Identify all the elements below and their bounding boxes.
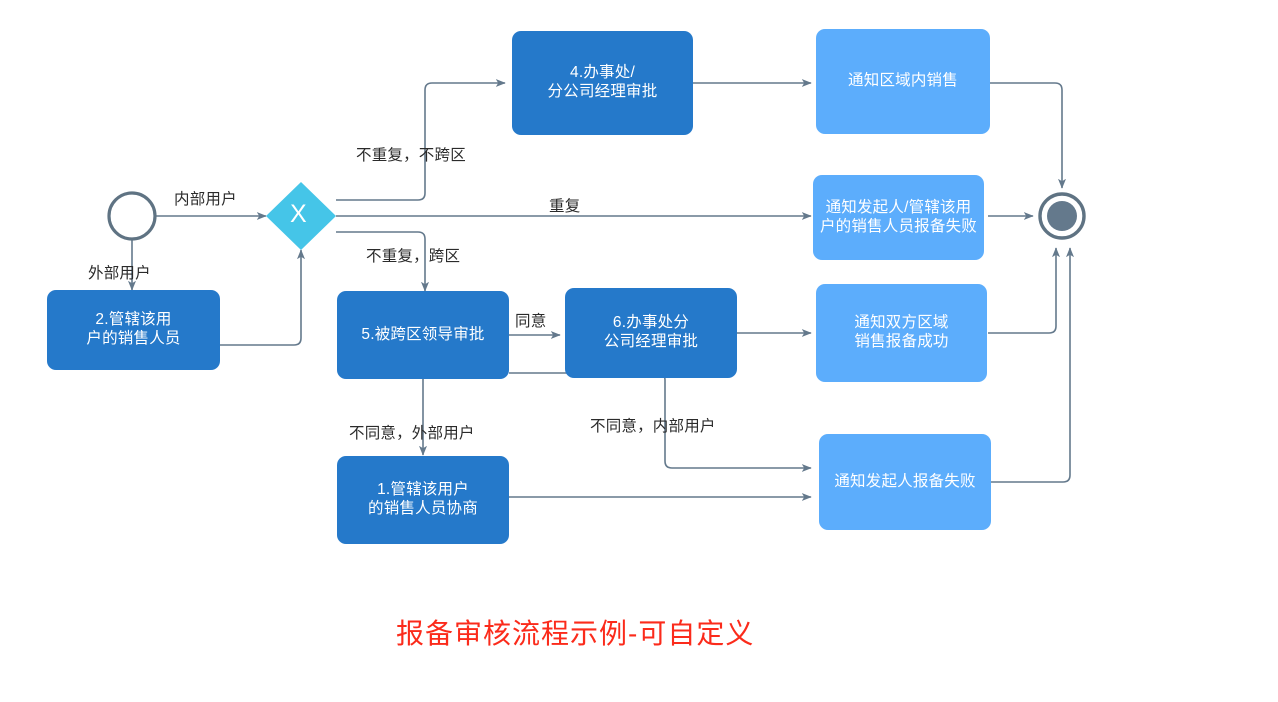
diagram-title: 报备审核流程示例-可自定义 xyxy=(396,612,754,652)
task-node-1-line1: 1.管辖该用户 xyxy=(368,481,478,500)
notification-node-success[interactable]: 通知双方区域 销售报备成功 xyxy=(816,284,987,382)
notification-node-fail-both[interactable]: 通知发起人/管辖该用 户的销售人员报备失败 xyxy=(813,175,984,260)
edge-label-disagree-internal: 不同意，内部用户 xyxy=(590,414,716,436)
task-node-2-line2: 户的销售人员 xyxy=(86,330,180,349)
task-node-6[interactable]: 6.办事处分 公司经理审批 xyxy=(565,288,737,378)
notification-fail-both-line1: 通知发起人/管辖该用 xyxy=(820,199,977,218)
edge-label-no-repeat-no-cross: 不重复，不跨区 xyxy=(356,143,466,165)
notification-success-line1: 通知双方区域 xyxy=(854,314,948,333)
flowchart-canvas: X 2.管辖该用 户的销售人员 4.办事处/ 分公司经理审批 5.被跨区领导审批… xyxy=(0,0,1278,702)
task-node-4-line2: 分公司经理审批 xyxy=(548,83,658,102)
edge-notify-region-to-end xyxy=(990,83,1062,188)
edge-label-disagree-external: 不同意，外部用户 xyxy=(349,421,475,443)
task-node-2[interactable]: 2.管辖该用 户的销售人员 xyxy=(47,290,220,370)
start-event[interactable] xyxy=(109,193,155,239)
edge-label-internal-user: 内部用户 xyxy=(174,187,237,209)
notification-node-fail[interactable]: 通知发起人报备失败 xyxy=(819,434,991,530)
edge-gateway-to-task4 xyxy=(336,83,505,200)
edge-label-external-user: 外部用户 xyxy=(88,261,151,283)
end-event[interactable] xyxy=(1047,201,1077,231)
notification-node-region-sales[interactable]: 通知区域内销售 xyxy=(816,29,990,134)
task-node-4-line1: 4.办事处/ xyxy=(548,64,658,83)
task-node-5[interactable]: 5.被跨区领导审批 xyxy=(337,291,509,379)
edge-label-no-repeat-cross: 不重复，跨区 xyxy=(366,244,460,266)
notification-fail-both-line2: 户的销售人员报备失败 xyxy=(820,218,977,237)
edge-label-repeat: 重复 xyxy=(549,194,580,216)
task-node-5-line1: 5.被跨区领导审批 xyxy=(361,326,484,345)
edge-task2-to-gateway xyxy=(219,250,301,345)
notification-region-sales-line1: 通知区域内销售 xyxy=(848,72,958,91)
task-node-1[interactable]: 1.管辖该用户 的销售人员协商 xyxy=(337,456,509,544)
notification-fail-line1: 通知发起人报备失败 xyxy=(834,473,975,492)
task-node-6-line1: 6.办事处分 xyxy=(604,314,698,333)
task-node-1-line2: 的销售人员协商 xyxy=(368,500,478,519)
edge-notify-success-to-end xyxy=(988,248,1056,333)
edge-label-agree: 同意 xyxy=(515,309,546,331)
task-node-2-line1: 2.管辖该用 xyxy=(86,311,180,330)
task-node-6-line2: 公司经理审批 xyxy=(604,333,698,352)
edge-notify-fail-to-end xyxy=(991,248,1070,482)
task-node-4[interactable]: 4.办事处/ 分公司经理审批 xyxy=(512,31,693,135)
notification-success-line2: 销售报备成功 xyxy=(854,333,948,352)
exclusive-gateway[interactable] xyxy=(266,182,336,250)
